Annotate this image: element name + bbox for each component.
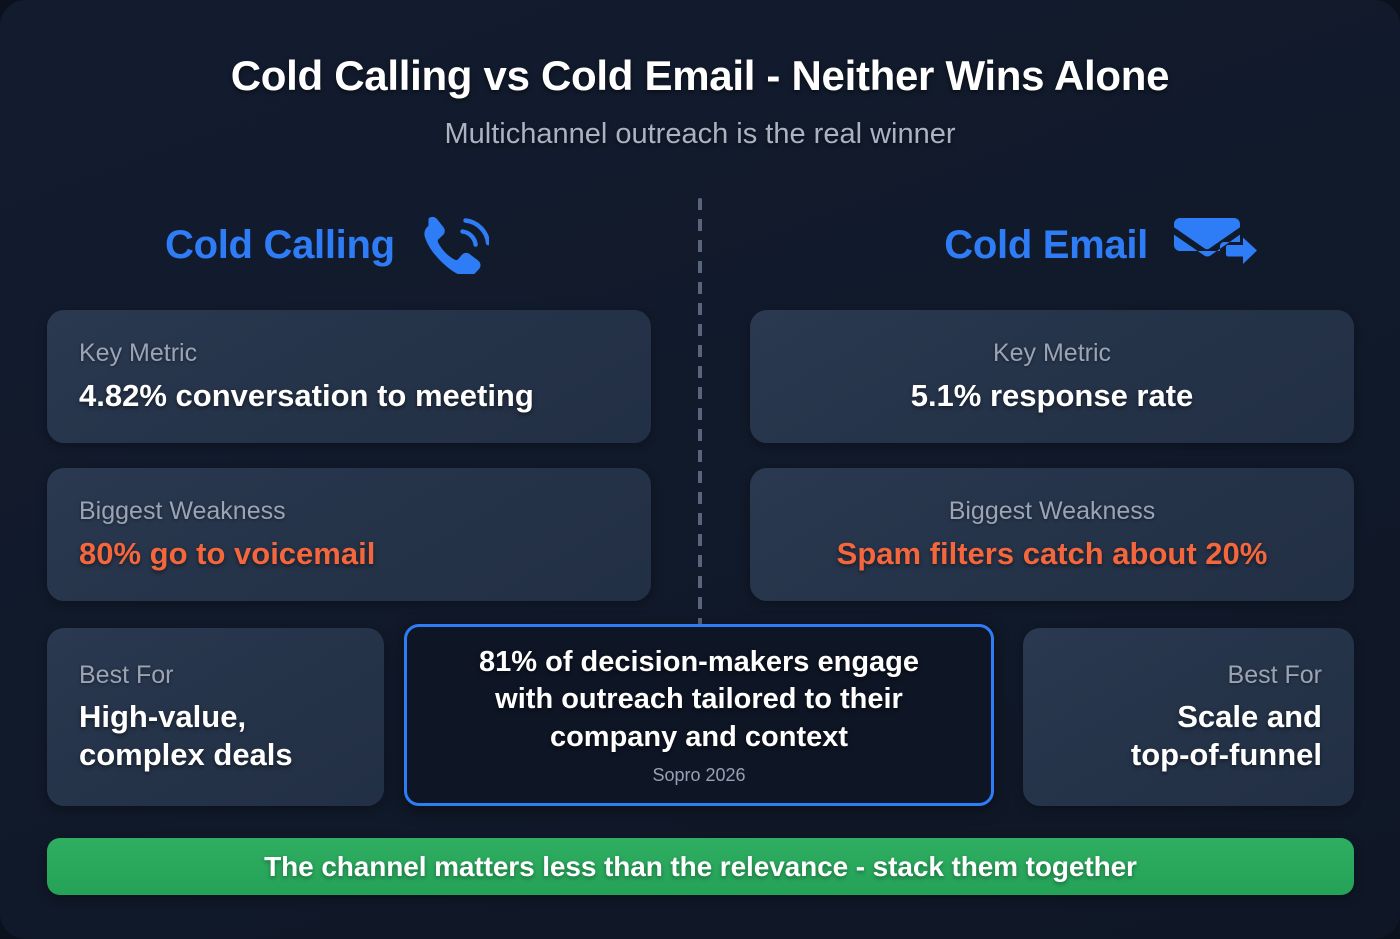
infographic-canvas: Cold Calling vs Cold Email - Neither Win… xyxy=(0,0,1400,939)
card-label: Key Metric xyxy=(79,338,197,369)
callout-line-1: 81% of decision-makers engage xyxy=(479,644,919,681)
center-stat-callout: 81% of decision-makers engage with outre… xyxy=(404,624,994,806)
card-label: Best For xyxy=(1228,660,1322,691)
footer-banner: The channel matters less than the releva… xyxy=(47,838,1354,895)
callout-text: 81% of decision-makers engage with outre… xyxy=(479,644,919,755)
card-cold-email-weakness: Biggest Weakness Spam filters catch abou… xyxy=(750,468,1354,601)
column-heading-label-left: Cold Calling xyxy=(165,223,395,268)
callout-line-3: company and context xyxy=(479,719,919,756)
phone-call-icon xyxy=(415,212,489,279)
card-cold-email-best-for: Best For Scale and top-of-funnel xyxy=(1023,628,1354,806)
card-value-line-2: complex deals xyxy=(79,736,293,774)
card-label: Biggest Weakness xyxy=(949,496,1156,527)
card-cold-calling-best-for: Best For High-value, complex deals xyxy=(47,628,384,806)
footer-banner-text: The channel matters less than the releva… xyxy=(264,851,1137,883)
column-heading-label-right: Cold Email xyxy=(944,223,1148,268)
card-value: 80% go to voicemail xyxy=(79,535,375,573)
column-heading-cold-calling: Cold Calling xyxy=(165,214,489,276)
card-label: Biggest Weakness xyxy=(79,496,286,527)
card-cold-email-key-metric: Key Metric 5.1% response rate xyxy=(750,310,1354,443)
card-value-line-1: Scale and xyxy=(1131,698,1322,736)
email-forward-icon xyxy=(1168,212,1260,279)
card-cold-calling-weakness: Biggest Weakness 80% go to voicemail xyxy=(47,468,651,601)
column-heading-cold-email: Cold Email xyxy=(944,214,1260,276)
card-value-line-1: High-value, xyxy=(79,698,293,736)
page-subtitle: Multichannel outreach is the real winner xyxy=(0,118,1400,151)
card-cold-calling-key-metric: Key Metric 4.82% conversation to meeting xyxy=(47,310,651,443)
callout-source: Sopro 2026 xyxy=(652,765,745,786)
page-title: Cold Calling vs Cold Email - Neither Win… xyxy=(0,52,1400,100)
card-label: Key Metric xyxy=(993,338,1111,369)
card-value: Scale and top-of-funnel xyxy=(1131,698,1322,774)
card-label: Best For xyxy=(79,660,173,691)
card-value-line-2: top-of-funnel xyxy=(1131,736,1322,774)
card-value: 5.1% response rate xyxy=(911,377,1194,415)
card-value: High-value, complex deals xyxy=(79,698,293,774)
card-value: Spam filters catch about 20% xyxy=(837,535,1268,573)
card-value: 4.82% conversation to meeting xyxy=(79,377,534,415)
column-divider xyxy=(698,198,702,638)
callout-line-2: with outreach tailored to their xyxy=(479,681,919,718)
